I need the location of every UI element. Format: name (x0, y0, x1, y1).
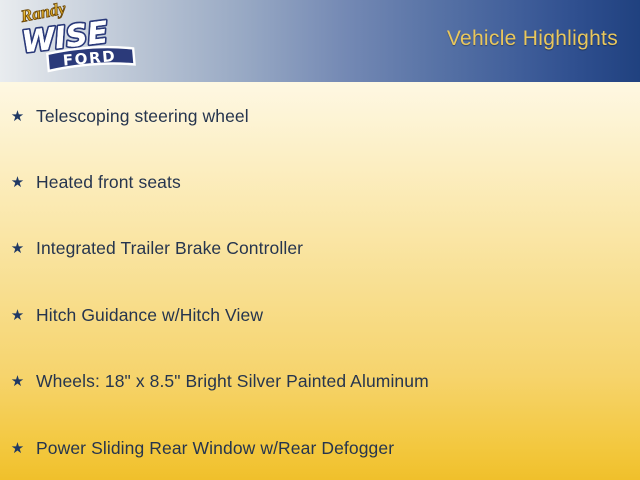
list-item: ★ Telescoping steering wheel (10, 103, 630, 129)
header-banner: Randy WISE WISE FORD Vehicle Highlights (0, 0, 640, 82)
highlights-list: ★ Telescoping steering wheel ★ Heated fr… (0, 82, 640, 480)
star-icon: ★ (10, 175, 25, 190)
list-item: ★ Integrated Trailer Brake Controller (10, 235, 630, 261)
highlight-label: Power Sliding Rear Window w/Rear Defogge… (36, 438, 630, 459)
star-icon: ★ (10, 109, 25, 124)
highlight-label: Telescoping steering wheel (36, 106, 630, 127)
star-icon: ★ (10, 441, 25, 456)
highlight-label: Hitch Guidance w/Hitch View (36, 305, 630, 326)
vehicle-highlights-slide: Randy WISE WISE FORD Vehicle Highlights … (0, 0, 640, 480)
list-item: ★ Hitch Guidance w/Hitch View (10, 302, 630, 328)
logo-artwork: Randy WISE WISE FORD (8, 2, 138, 80)
star-icon: ★ (10, 241, 25, 256)
star-icon: ★ (10, 374, 25, 389)
page-title: Vehicle Highlights (447, 27, 618, 51)
highlight-label: Heated front seats (36, 172, 630, 193)
svg-text:FORD: FORD (62, 47, 117, 70)
star-icon: ★ (10, 308, 25, 323)
randy-wise-ford-logo: Randy WISE WISE FORD (8, 2, 138, 80)
highlight-label: Wheels: 18" x 8.5" Bright Silver Painted… (36, 371, 630, 392)
list-item: ★ Power Sliding Rear Window w/Rear Defog… (10, 435, 630, 461)
list-item: ★ Heated front seats (10, 169, 630, 195)
highlight-label: Integrated Trailer Brake Controller (36, 238, 630, 259)
list-item: ★ Wheels: 18" x 8.5" Bright Silver Paint… (10, 368, 630, 394)
